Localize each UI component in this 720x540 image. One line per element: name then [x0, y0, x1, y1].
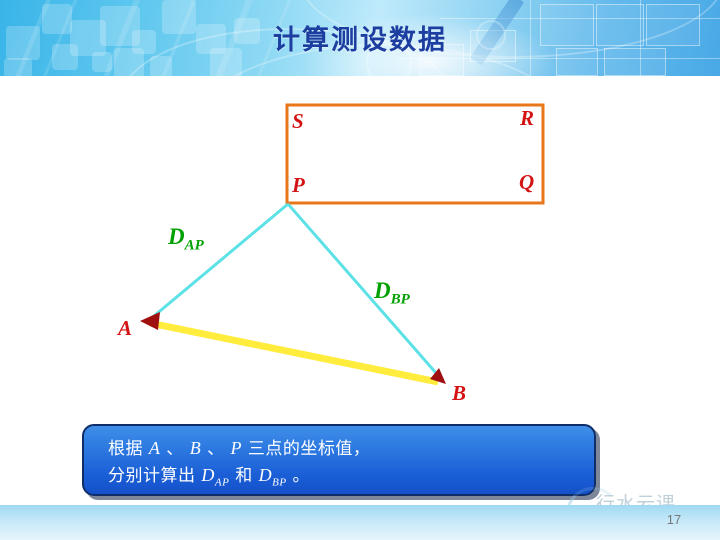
distance-dbp-main: D [374, 278, 391, 303]
callout-l1-mid1: 、 [160, 439, 189, 459]
callout-l2-d2: D [259, 465, 273, 485]
callout-l1-pre: 根据 [108, 439, 149, 459]
callout-l1-mid2: 、 [201, 439, 230, 459]
callout-l2-sub1: AP [215, 476, 229, 488]
callout-l2-pre: 分别计算出 [108, 466, 201, 486]
page-title: 计算测设数据 [0, 18, 720, 57]
callout-l1-post: 三点的坐标值， [242, 439, 370, 459]
distance-label-dbp: DBP [374, 279, 410, 308]
page-number: 17 [660, 512, 688, 527]
point-label-b: B [452, 383, 466, 404]
callout-l1-b: B [190, 438, 202, 458]
instruction-callout: 根据 A 、 B 、 P 三点的坐标值， 分别计算出 DAP 和 DBP 。 [82, 424, 596, 496]
callout-l1-p: P [231, 438, 243, 458]
distance-dap-main: D [168, 224, 185, 249]
callout-line-2: 分别计算出 DAP 和 DBP 。 [108, 462, 594, 495]
corner-label-r: R [520, 108, 534, 129]
callout-l2-sub2: BP [272, 476, 286, 488]
slide-root: 计算测设数据 S R P Q A B DAP [0, 0, 720, 540]
corner-label-q: Q [519, 172, 534, 193]
footer-band [0, 505, 720, 540]
distance-dap-sub: AP [185, 238, 204, 254]
header-blueprint-line [400, 58, 720, 59]
callout-l1-a: A [149, 438, 161, 458]
corner-label-s: S [292, 111, 304, 132]
callout-l2-mid: 和 [229, 466, 258, 486]
sight-line-pa [148, 204, 288, 321]
header-banner: 计算测设数据 [0, 0, 720, 76]
distance-dbp-sub: BP [391, 292, 410, 308]
baseline-ab [150, 323, 438, 382]
point-label-a: A [118, 318, 132, 339]
callout-line-1: 根据 A 、 B 、 P 三点的坐标值， [108, 435, 594, 462]
callout-l2-d1: D [201, 465, 215, 485]
callout-l2-post: 。 [287, 466, 310, 486]
distance-label-dap: DAP [168, 225, 204, 254]
arrowhead-a [140, 312, 160, 330]
corner-label-p: P [292, 175, 305, 196]
building-rectangle [287, 105, 543, 203]
